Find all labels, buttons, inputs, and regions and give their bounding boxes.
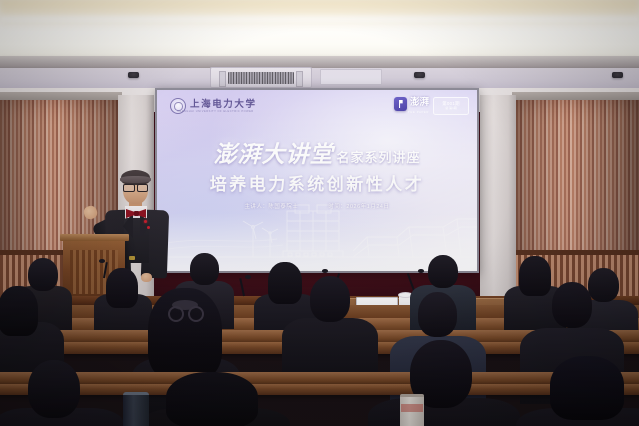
hair-tie-icon	[188, 306, 204, 322]
bow-tie-knot	[134, 211, 139, 216]
glasses-icon	[123, 184, 148, 190]
pillar-right	[480, 95, 516, 310]
lectern-top	[60, 234, 129, 241]
red-lapel-pin-icon	[147, 226, 150, 229]
audience-hair-long	[166, 372, 258, 426]
audience-head	[428, 255, 458, 288]
ceiling-spotlight-icon	[128, 72, 139, 78]
slide-title-main: 澎湃大讲堂	[213, 142, 333, 167]
audience-hair-long	[106, 268, 138, 308]
speaker-pocket-detail	[129, 256, 135, 260]
projection-screen: 上海电力大学 SHANGHAI UNIVERSITY OF ELECTRIC P…	[157, 90, 477, 271]
issue-badge: 第001期 总 第1期	[433, 97, 469, 115]
audience-member	[540, 356, 636, 426]
audience-member	[20, 360, 98, 426]
slide-speaker-label: 主讲人：陈国泰院士	[244, 202, 298, 210]
slide-meta-row: 主讲人：陈国泰院士 时间：2026年1月24日	[157, 202, 477, 210]
slide-title-series: 名家系列讲座	[336, 150, 420, 165]
speaker-hair	[121, 170, 150, 185]
audience-head	[552, 282, 592, 328]
audience-member	[160, 372, 270, 426]
issue-sub: 总 第1期	[445, 107, 457, 110]
microphone-head-icon	[99, 259, 105, 263]
audience-head	[418, 292, 457, 337]
audience-head	[28, 360, 80, 418]
slide-time-label: 时间：2026年1月24日	[328, 202, 389, 210]
audience-hair-long	[550, 356, 624, 420]
audience-hair-long	[0, 286, 38, 336]
ceiling	[0, 0, 639, 62]
audience-hair-long	[268, 262, 302, 304]
air-conditioner-vent-icon	[210, 67, 312, 88]
microphone-head-icon	[322, 269, 328, 273]
pengpai-p-logo-icon	[394, 97, 407, 111]
brand-name-cn: 澎湃	[410, 99, 429, 109]
brand-logo: 澎湃	[394, 97, 429, 111]
brand-name-en: THE PAPER	[408, 110, 429, 114]
paper-cup-band	[401, 404, 423, 412]
slide-subtitle: 培养电力系统创新性人才	[157, 170, 477, 195]
thermos-bottle-icon	[123, 392, 149, 426]
lecture-hall-photo: 上海电力大学 SHANGHAI UNIVERSITY OF ELECTRIC P…	[0, 0, 639, 426]
ceiling-access-panel	[320, 69, 382, 85]
vent-blade-right	[296, 71, 303, 87]
audience-member	[300, 276, 358, 376]
vent-blade-left	[219, 71, 226, 87]
ceiling-light-strip	[0, 14, 639, 25]
audience-head	[310, 276, 350, 322]
microphone-head-icon	[245, 275, 251, 279]
audience-member	[100, 268, 144, 332]
ceiling-spotlight-icon	[612, 72, 623, 78]
ceiling-spotlight-icon	[414, 72, 425, 78]
hair-tie-icon	[168, 306, 184, 322]
vent-grille	[228, 72, 294, 84]
university-name-en: SHANGHAI UNIVERSITY OF ELECTRIC POWER	[177, 110, 254, 113]
slide-title-row: 澎湃大讲堂名家系列讲座	[157, 135, 477, 169]
audience-head	[190, 253, 219, 285]
